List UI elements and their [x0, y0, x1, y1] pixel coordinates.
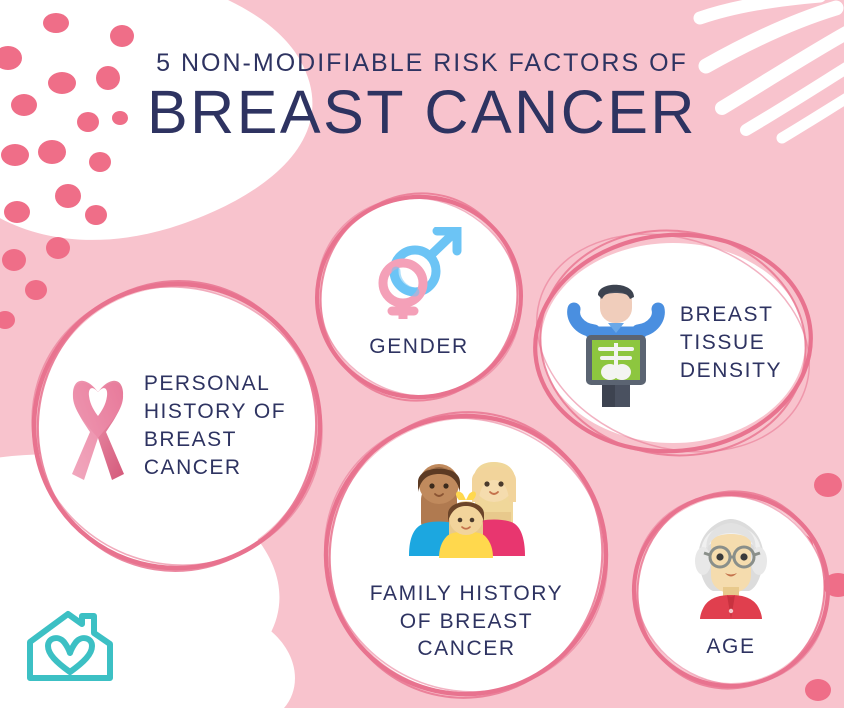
- card-content: AGE: [638, 497, 824, 683]
- card-label: FAMILY HISTORY OF BREAST CANCER: [370, 580, 564, 664]
- risk-card-family-history[interactable]: FAMILY HISTORY OF BREAST CANCER: [330, 419, 603, 692]
- gender-symbols-icon: [371, 227, 467, 319]
- card-label: PERSONAL HISTORY OF BREAST CANCER: [144, 370, 286, 482]
- risk-card-personal-history[interactable]: PERSONAL HISTORY OF BREAST CANCER: [38, 287, 316, 565]
- risk-card-age[interactable]: AGE: [638, 497, 824, 683]
- card-label: AGE: [706, 633, 755, 661]
- card-content: PERSONAL HISTORY OF BREAST CANCER: [38, 287, 316, 565]
- elderly-woman-icon: [689, 517, 773, 619]
- xray-person-icon: [564, 277, 668, 409]
- card-label: BREAST TISSUE DENSITY: [680, 301, 782, 385]
- pink-ribbon-icon: [68, 368, 128, 484]
- family-icon: [403, 452, 529, 560]
- card-content: GENDER: [321, 199, 517, 395]
- card-content: FAMILY HISTORY OF BREAST CANCER: [330, 419, 603, 692]
- card-label: GENDER: [369, 333, 468, 361]
- house-heart-logo[interactable]: [24, 608, 118, 684]
- risk-card-gender[interactable]: GENDER: [321, 199, 517, 395]
- infographic-canvas: 5 NON-MODIFIABLE RISK FACTORS OF BREAST …: [0, 0, 844, 708]
